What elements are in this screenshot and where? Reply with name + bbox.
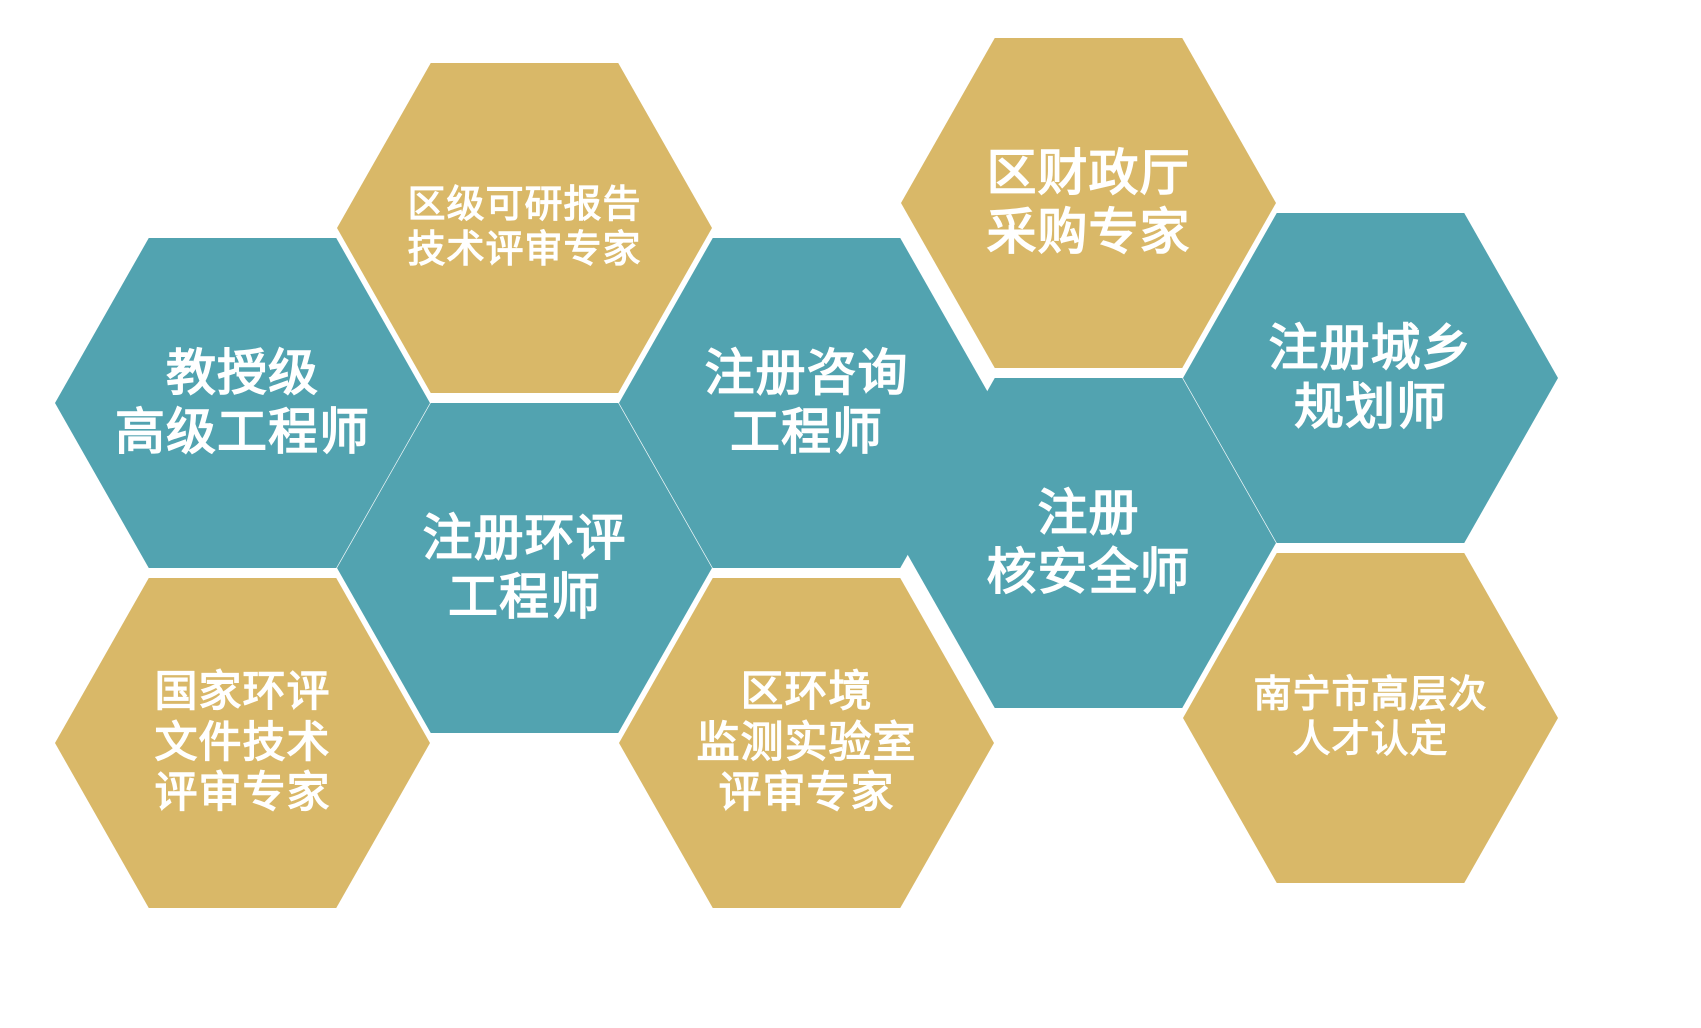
hexagon-label-line: 文件技术 [155,718,331,769]
hexagon-label-line: 区级可研报告 [407,183,641,228]
hexagon-label-line: 规划师 [1269,378,1473,437]
hexagon-label: 区财政厅采购专家 [987,144,1191,262]
hexagon-label-line: 技术评审专家 [407,228,641,273]
hexagon-label-line: 人才认定 [1253,718,1487,763]
hexagon-label-line: 区财政厅 [987,144,1191,203]
hexagon-label: 注册城乡规划师 [1269,319,1473,437]
hexagon-label-line: 区环境 [697,667,917,718]
hexagon-diagram-canvas: 教授级高级工程师区级可研报告技术评审专家注册咨询工程师区财政厅采购专家注册城乡规… [0,0,1701,1028]
hexagon-label-line: 核安全师 [987,543,1191,602]
hexagon-label-line: 教授级 [115,344,370,403]
hexagon-label-line: 评审专家 [155,768,331,819]
hexagon-label: 注册咨询工程师 [705,344,909,462]
hexagon-label-line: 南宁市高层次 [1253,673,1487,718]
hexagon-label-line: 评审专家 [697,768,917,819]
hexagon-label-line: 工程师 [423,568,627,627]
hexagon-label-line: 高级工程师 [115,403,370,462]
hexagon-label: 区级可研报告技术评审专家 [407,183,641,273]
hexagon-label-line: 国家环评 [155,667,331,718]
hexagon-label: 注册环评工程师 [423,509,627,627]
hexagon-label: 南宁市高层次人才认定 [1253,673,1487,763]
hexagon-label-line: 工程师 [705,403,909,462]
hexagon-label-line: 注册咨询 [705,344,909,403]
hexagon-label: 国家环评文件技术评审专家 [155,667,331,819]
hexagon-label-line: 注册环评 [423,509,627,568]
hexagon-label-line: 注册 [987,484,1191,543]
hexagon-label: 区环境监测实验室评审专家 [697,667,917,819]
hexagon-label-line: 采购专家 [987,203,1191,262]
hexagon-label-line: 注册城乡 [1269,319,1473,378]
hexagon-label: 教授级高级工程师 [115,344,370,462]
hexagon-label-line: 监测实验室 [697,718,917,769]
hexagon-label: 注册核安全师 [987,484,1191,602]
